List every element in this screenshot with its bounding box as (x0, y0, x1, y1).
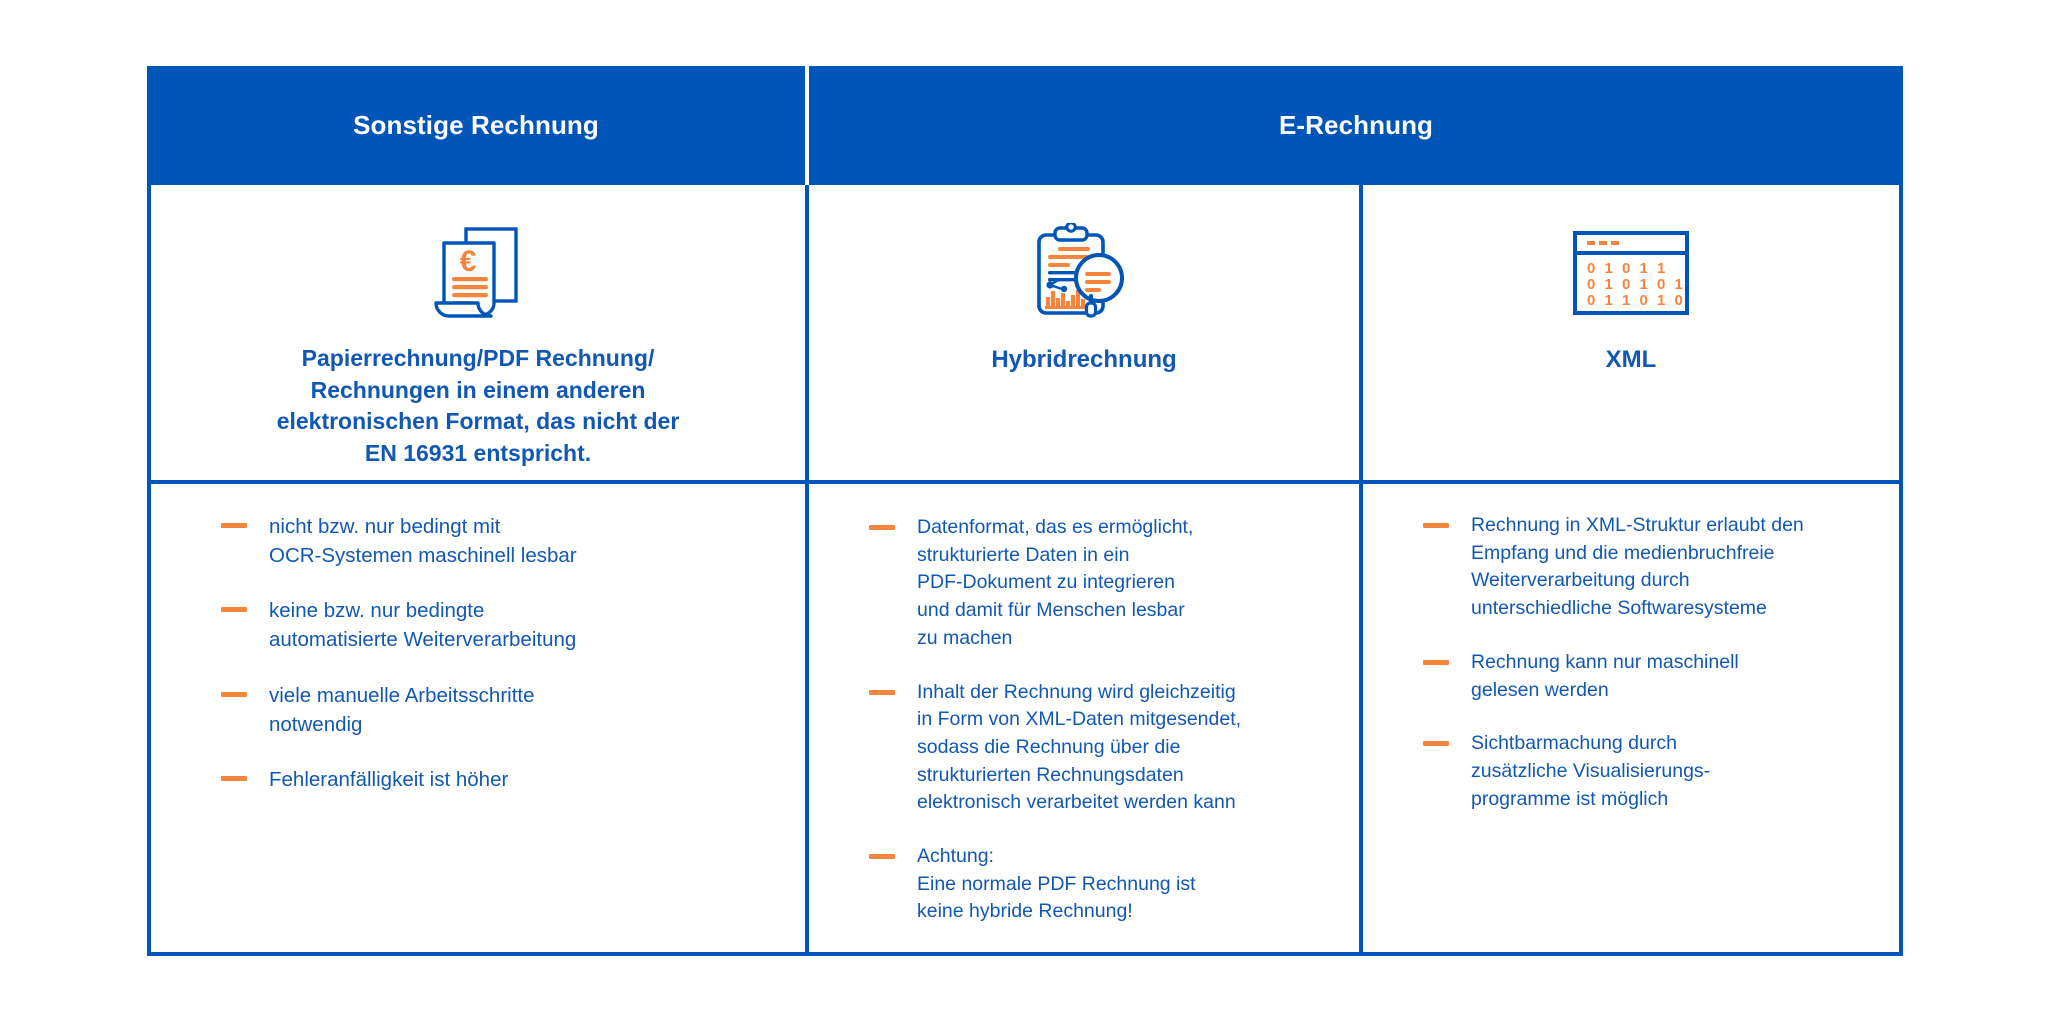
list-item-text: Rechnung in XML-Struktur erlaubt den Emp… (1471, 512, 1804, 623)
cell-xml-icon: 0 1 0 1 1 0 1 0 1 0 1 0 1 1 0 1 0 1 1 XM… (1359, 185, 1899, 480)
bullet-list-xml: Rechnung in XML-Struktur erlaubt den Emp… (1363, 484, 1899, 813)
dash-icon (221, 607, 247, 612)
list-item-text: Datenformat, das es ermöglicht, struktur… (917, 514, 1193, 652)
header-cell-sonstige-rechnung: Sonstige Rechnung (147, 66, 805, 185)
cell-sonstige-icon: € Papierrechnung/PDF Rechnung/ Rechnunge… (151, 185, 805, 480)
icon-caption-group-3: 0 1 0 1 1 0 1 0 1 0 1 0 1 1 0 1 0 1 1 XM… (1363, 185, 1899, 376)
dash-icon (869, 525, 895, 530)
infographic-root: Sonstige Rechnung E-Rechnung (0, 0, 2048, 1024)
table-body: € Papierrechnung/PDF Rechnung/ Rechnunge… (147, 185, 1903, 956)
header-cell-e-rechnung: E-Rechnung (809, 66, 1903, 185)
list-item-text: Achtung: Eine normale PDF Rechnung ist k… (917, 843, 1196, 926)
cell-sonstige-bullets: nicht bzw. nur bedingt mit OCR-Systemen … (151, 484, 805, 952)
dash-icon (221, 523, 247, 528)
list-item: Inhalt der Rechnung wird gleichzeitig in… (869, 679, 1335, 817)
caption-sonstige-rechnung: Papierrechnung/PDF Rechnung/ Rechnungen … (268, 343, 688, 470)
list-item-text: Sichtbarmachung durch zusätzliche Visual… (1471, 730, 1710, 813)
dash-icon (869, 854, 895, 859)
svg-text:0 1 1 0 1 0 1 1: 0 1 1 0 1 0 1 1 (1587, 292, 1691, 309)
icon-caption-group-1: € Papierrechnung/PDF Rechnung/ Rechnunge… (151, 185, 805, 470)
cell-hybrid-icon: Hybridrechnung (805, 185, 1359, 480)
list-item-text: nicht bzw. nur bedingt mit OCR-Systemen … (269, 512, 577, 570)
list-item: Fehleranfälligkeit ist höher (221, 765, 781, 794)
list-item: nicht bzw. nur bedingt mit OCR-Systemen … (221, 512, 781, 570)
paper-invoice-euro-icon: € (430, 223, 526, 323)
header-label-sonstige-rechnung: Sonstige Rechnung (353, 110, 599, 141)
dash-icon (1423, 741, 1449, 746)
dash-icon (221, 692, 247, 697)
list-item-text: viele manuelle Arbeitsschritte notwendig (269, 681, 535, 739)
list-item: Rechnung in XML-Struktur erlaubt den Emp… (1423, 512, 1875, 623)
header-label-e-rechnung: E-Rechnung (1279, 110, 1433, 141)
list-item: viele manuelle Arbeitsschritte notwendig (221, 681, 781, 739)
cell-xml-bullets: Rechnung in XML-Struktur erlaubt den Emp… (1359, 484, 1899, 952)
clipboard-magnifier-chart-icon (1029, 223, 1139, 323)
icon-caption-group-2: Hybridrechnung (809, 185, 1359, 376)
dash-icon (1423, 523, 1449, 528)
caption-xml: XML (1606, 343, 1657, 376)
table-row-icons: € Papierrechnung/PDF Rechnung/ Rechnunge… (151, 185, 1899, 480)
dash-icon (221, 776, 247, 781)
dash-icon (869, 690, 895, 695)
caption-hybridrechnung: Hybridrechnung (991, 343, 1176, 376)
bullet-list-hybrid: Datenformat, das es ermöglicht, struktur… (809, 484, 1359, 926)
table-row-bullets: nicht bzw. nur bedingt mit OCR-Systemen … (151, 480, 1899, 952)
table-header-row: Sonstige Rechnung E-Rechnung (147, 66, 1903, 185)
svg-text:0 1 0 1 0 1: 0 1 0 1 0 1 (1587, 276, 1685, 293)
list-item: Rechnung kann nur maschinell gelesen wer… (1423, 649, 1875, 704)
list-item-text: keine bzw. nur bedingte automatisierte W… (269, 596, 576, 654)
list-item: Sichtbarmachung durch zusätzliche Visual… (1423, 730, 1875, 813)
svg-text:0 1 0 1 1: 0 1 0 1 1 (1587, 260, 1668, 277)
dash-icon (1423, 660, 1449, 665)
list-item-text: Fehleranfälligkeit ist höher (269, 765, 508, 794)
list-item: Datenformat, das es ermöglicht, struktur… (869, 514, 1335, 652)
cell-hybrid-bullets: Datenformat, das es ermöglicht, struktur… (805, 484, 1359, 952)
browser-binary-code-icon: 0 1 0 1 1 0 1 0 1 0 1 0 1 1 0 1 0 1 1 (1571, 223, 1691, 323)
list-item: keine bzw. nur bedingte automatisierte W… (221, 596, 781, 654)
comparison-table: Sonstige Rechnung E-Rechnung (147, 66, 1903, 956)
list-item: Achtung: Eine normale PDF Rechnung ist k… (869, 843, 1335, 926)
list-item-text: Inhalt der Rechnung wird gleichzeitig in… (917, 679, 1241, 817)
list-item-text: Rechnung kann nur maschinell gelesen wer… (1471, 649, 1739, 704)
svg-text:€: € (460, 245, 477, 278)
bullet-list-sonstige: nicht bzw. nur bedingt mit OCR-Systemen … (151, 484, 805, 794)
